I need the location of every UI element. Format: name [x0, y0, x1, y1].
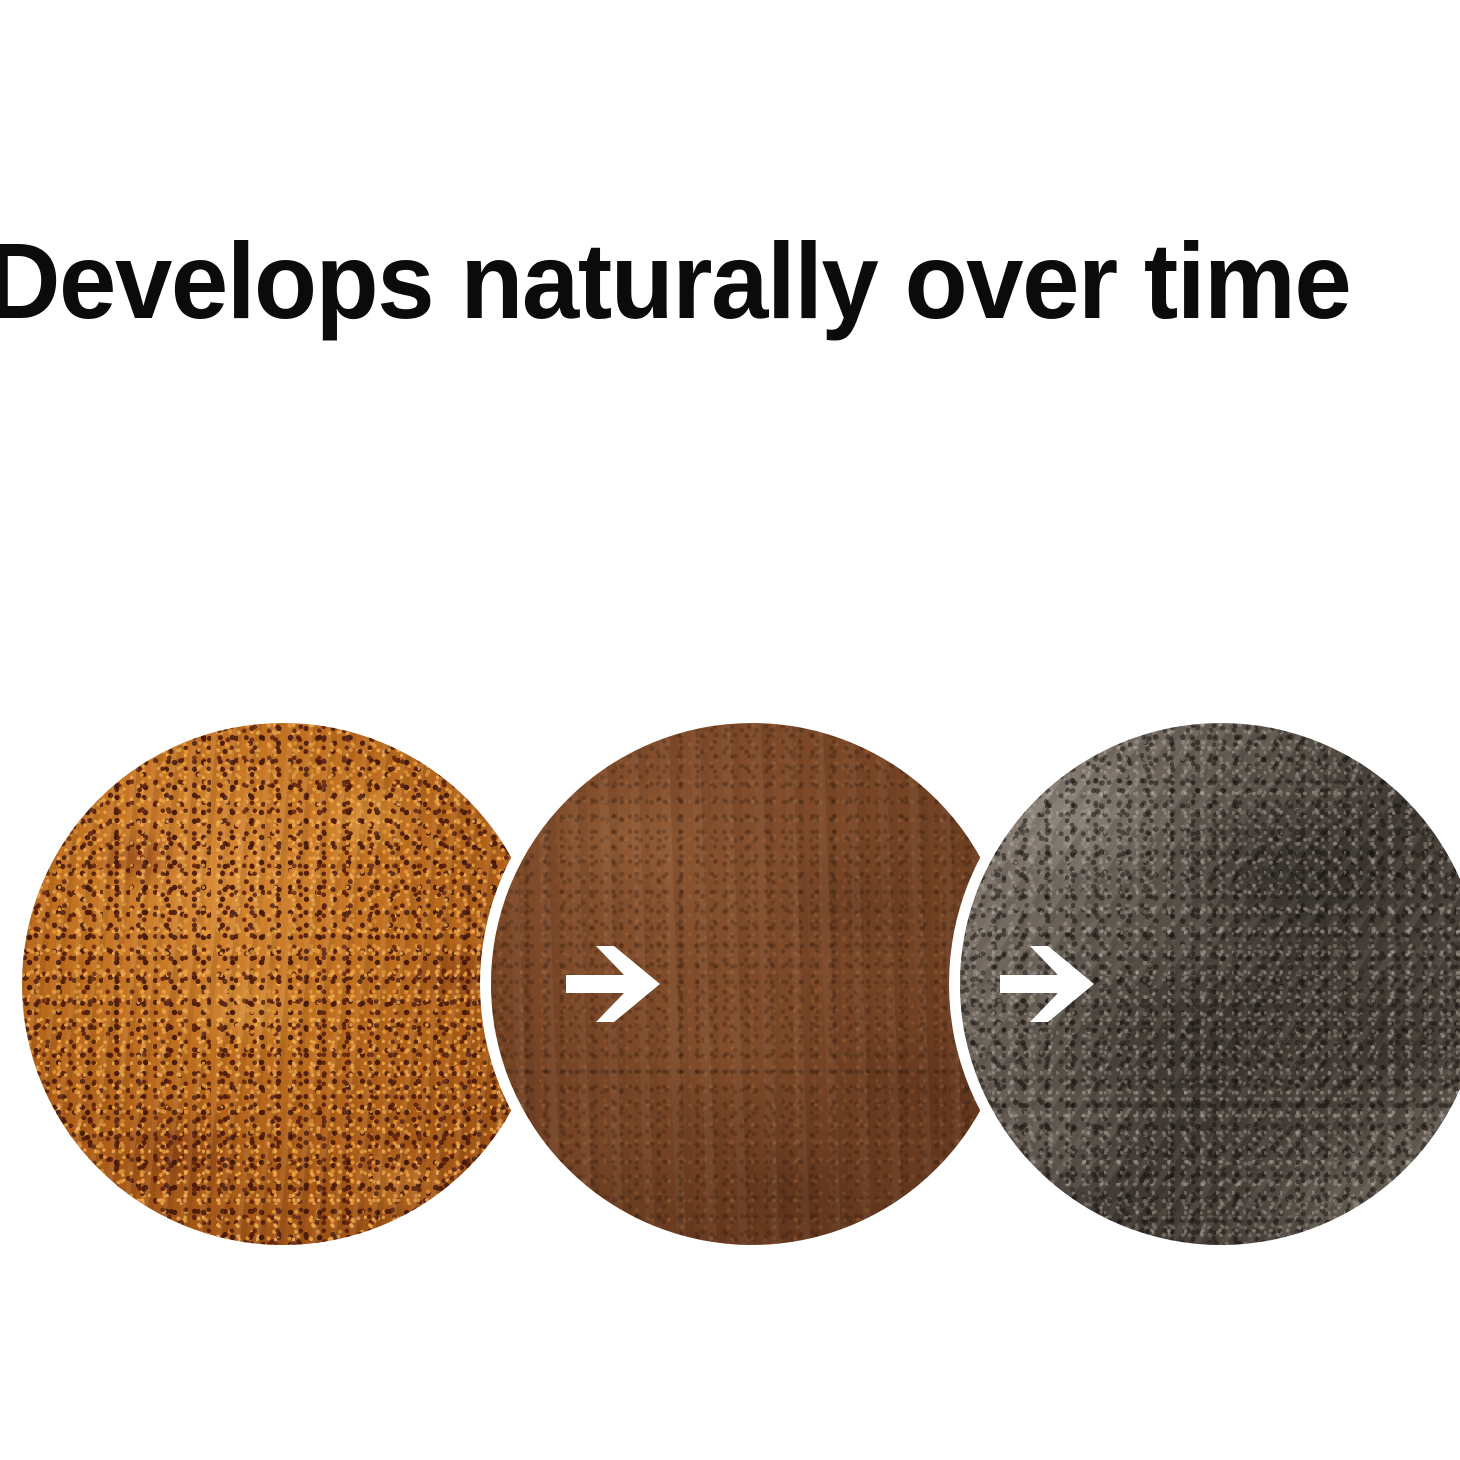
page-title: Develops naturally over time [0, 222, 1460, 342]
rust-streak-layer [22, 723, 544, 1245]
fresh-rust-swatch[interactable] [22, 723, 544, 1245]
arrow-right-icon [1000, 938, 1104, 1030]
arrow-right-icon [566, 938, 670, 1030]
slide-canvas: Develops naturally over time [0, 0, 1460, 1460]
patina-progression-row [0, 723, 1460, 1245]
